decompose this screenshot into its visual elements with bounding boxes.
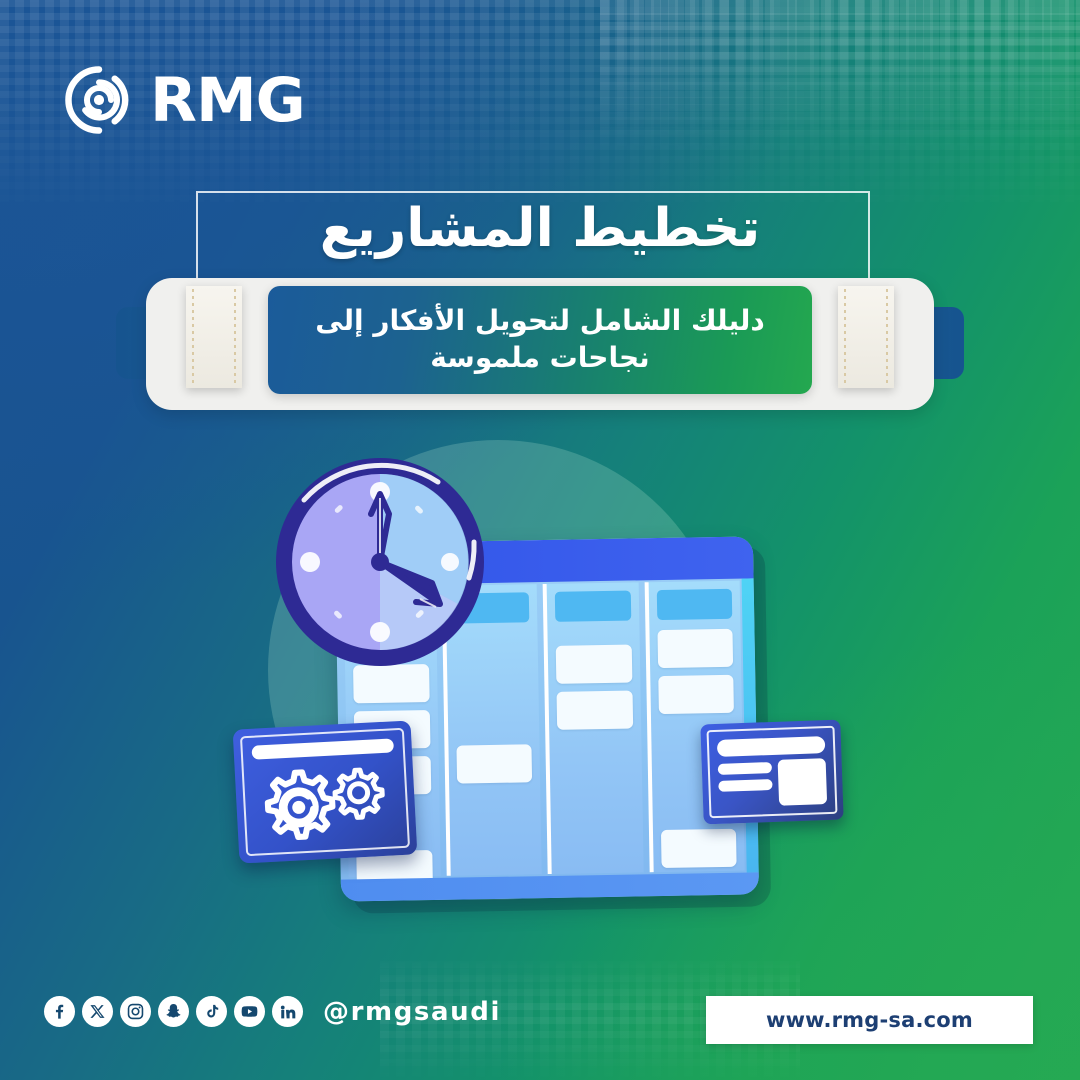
board-card: [657, 629, 733, 668]
ribbon-perforated-tab-right: [838, 286, 894, 388]
board-card: [556, 645, 632, 684]
gears-settings-panel-icon: [233, 720, 418, 863]
board-card: [658, 675, 734, 714]
linkedin-icon[interactable]: [272, 996, 303, 1027]
mini-card-thumbnail: [778, 758, 828, 806]
rmg-spiral-circle-icon: [62, 63, 136, 137]
brand-name: RMG: [150, 70, 305, 131]
board-column: [543, 582, 644, 874]
page-title: تخطيط المشاريع: [0, 196, 1080, 262]
wall-clock-icon: [270, 452, 490, 672]
social-handle: @rmgsaudi: [323, 997, 501, 1027]
brand-logo: RMG: [62, 63, 305, 137]
gear-icons: [254, 757, 398, 850]
mini-card-bar: [718, 779, 772, 792]
board-card: [456, 744, 532, 783]
board-card: [660, 829, 736, 868]
document-card-icon: [700, 720, 843, 825]
board-card: [557, 691, 633, 730]
website-url: www.rmg-sa.com: [766, 1008, 973, 1032]
facebook-icon[interactable]: [44, 996, 75, 1027]
column-header: [555, 591, 631, 622]
instagram-icon[interactable]: [120, 996, 151, 1027]
poster-canvas: RMG تخطيط المشاريع دليلك الشامل لتحويل ا…: [0, 0, 1080, 1080]
subtitle-text: دليلك الشامل لتحويل الأفكار إلى نجاحات م…: [268, 303, 812, 377]
snapchat-icon[interactable]: [158, 996, 189, 1027]
ribbon-perforated-tab-left: [186, 286, 242, 388]
x-twitter-icon[interactable]: [82, 996, 113, 1027]
youtube-icon[interactable]: [234, 996, 265, 1027]
mini-card-bar: [718, 762, 772, 775]
column-header: [656, 589, 732, 620]
pixel-pattern-top-right: [600, 0, 1080, 150]
website-url-box[interactable]: www.rmg-sa.com: [706, 996, 1033, 1044]
tiktok-icon[interactable]: [196, 996, 227, 1027]
social-links: @rmgsaudi: [44, 996, 501, 1027]
project-planning-illustration: [250, 430, 810, 950]
subtitle-chip: دليلك الشامل لتحويل الأفكار إلى نجاحات م…: [268, 286, 812, 394]
